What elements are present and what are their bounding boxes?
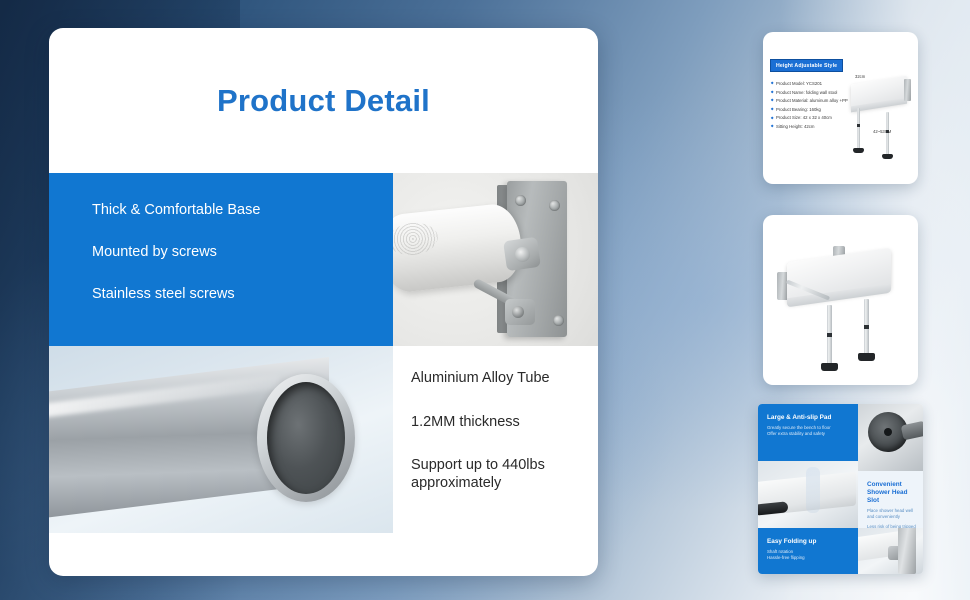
feature-sub-2: Offer extra stability and safety <box>767 431 851 437</box>
height-adjustable-badge: Height Adjustable Style <box>770 59 843 72</box>
spec-item: Product Model: YCS201 <box>771 81 853 86</box>
feature-sub-2: Hassle-free flipping <box>767 555 851 561</box>
seat-foot <box>853 148 864 153</box>
leg-adjust-band <box>864 325 869 329</box>
leg-adjust-band <box>886 130 889 133</box>
spec-item: Product Bearing: 160kg <box>771 107 853 112</box>
feature-heading: Convenient Shower Head Slot <box>867 481 916 505</box>
tube-bore <box>267 382 345 494</box>
anti-slip-pad-photo <box>758 461 858 528</box>
screw-icon <box>553 315 564 326</box>
feature-line-2: Mounted by screws <box>92 245 393 261</box>
dimension-label-width: 32cm <box>855 74 865 79</box>
screw-icon <box>549 200 560 211</box>
feature-heading: Large & Anti-slip Pad <box>767 414 851 422</box>
feature-heading: Easy Folding up <box>767 538 851 546</box>
feature-text-panel: Thick & Comfortable Base Mounted by scre… <box>49 173 393 346</box>
spec-bullet-list: Product Model: YCS201 Product Name: fold… <box>771 81 853 133</box>
bolt-icon <box>512 306 524 318</box>
spec-line-3: Support up to 440lbs approximately <box>411 457 588 492</box>
anti-slip-pad <box>758 501 788 515</box>
shower-head-photo <box>858 404 923 471</box>
feature-cell-anti-slip: Large & Anti-slip Pad Greatly secure the… <box>758 404 858 461</box>
detail-grid: Thick & Comfortable Base Mounted by scre… <box>49 173 598 533</box>
feature-cell-folding: Easy Folding up Shaft rotation Hassle-fr… <box>758 528 858 574</box>
seat-foot <box>882 154 893 159</box>
thumbnail-feature-grid[interactable]: Large & Anti-slip Pad Greatly secure the… <box>758 404 923 574</box>
bracket-closeup-photo <box>393 173 598 346</box>
spec-line-2: 1.2MM thickness <box>411 414 588 432</box>
thumbnail-spec-sheet[interactable]: Height Adjustable Style Product Model: Y… <box>763 32 918 184</box>
seat-foot <box>821 363 838 371</box>
spec-item: Product Name: folding wall stool <box>771 90 853 95</box>
product-detail-card: Product Detail Thick & Comfortable Base … <box>49 28 598 576</box>
nozzle-hole <box>884 428 892 436</box>
water-stream <box>806 467 820 513</box>
spec-item: Product Material: aluminum alloy +PP <box>771 98 853 103</box>
wall-bracket <box>904 79 911 101</box>
seat-texture <box>393 220 439 257</box>
seat-leg <box>886 112 889 156</box>
wall-mount-plate <box>898 528 916 574</box>
card-title-area: Product Detail <box>49 28 598 173</box>
folding-hinge-photo <box>858 528 923 574</box>
spec-item: Product Size: 42 x 32 x 40cm <box>771 115 853 120</box>
leg-adjust-band <box>827 333 832 337</box>
screw-icon <box>515 195 526 206</box>
feature-line-3: Stainless steel screws <box>92 287 393 303</box>
spec-line-1: Aluminium Alloy Tube <box>411 370 588 388</box>
aluminium-tube-photo <box>49 346 393 533</box>
material-spec-panel: Aluminium Alloy Tube 1.2MM thickness Sup… <box>393 346 598 533</box>
bolt-icon <box>515 247 530 262</box>
thumbnail-product-photo[interactable] <box>763 215 918 385</box>
feature-cell-shower-slot: Convenient Shower Head Slot Place shower… <box>858 471 923 528</box>
feature-line-1: Thick & Comfortable Base <box>92 203 393 219</box>
spec-item: Sitting Height: 42cm <box>771 124 853 129</box>
page-title: Product Detail <box>217 83 430 119</box>
feature-sub-1: Place shower head well and conveniently <box>867 508 916 521</box>
seat-leg <box>857 108 860 150</box>
leg-adjust-band <box>857 124 860 127</box>
seat-foot <box>858 353 875 361</box>
